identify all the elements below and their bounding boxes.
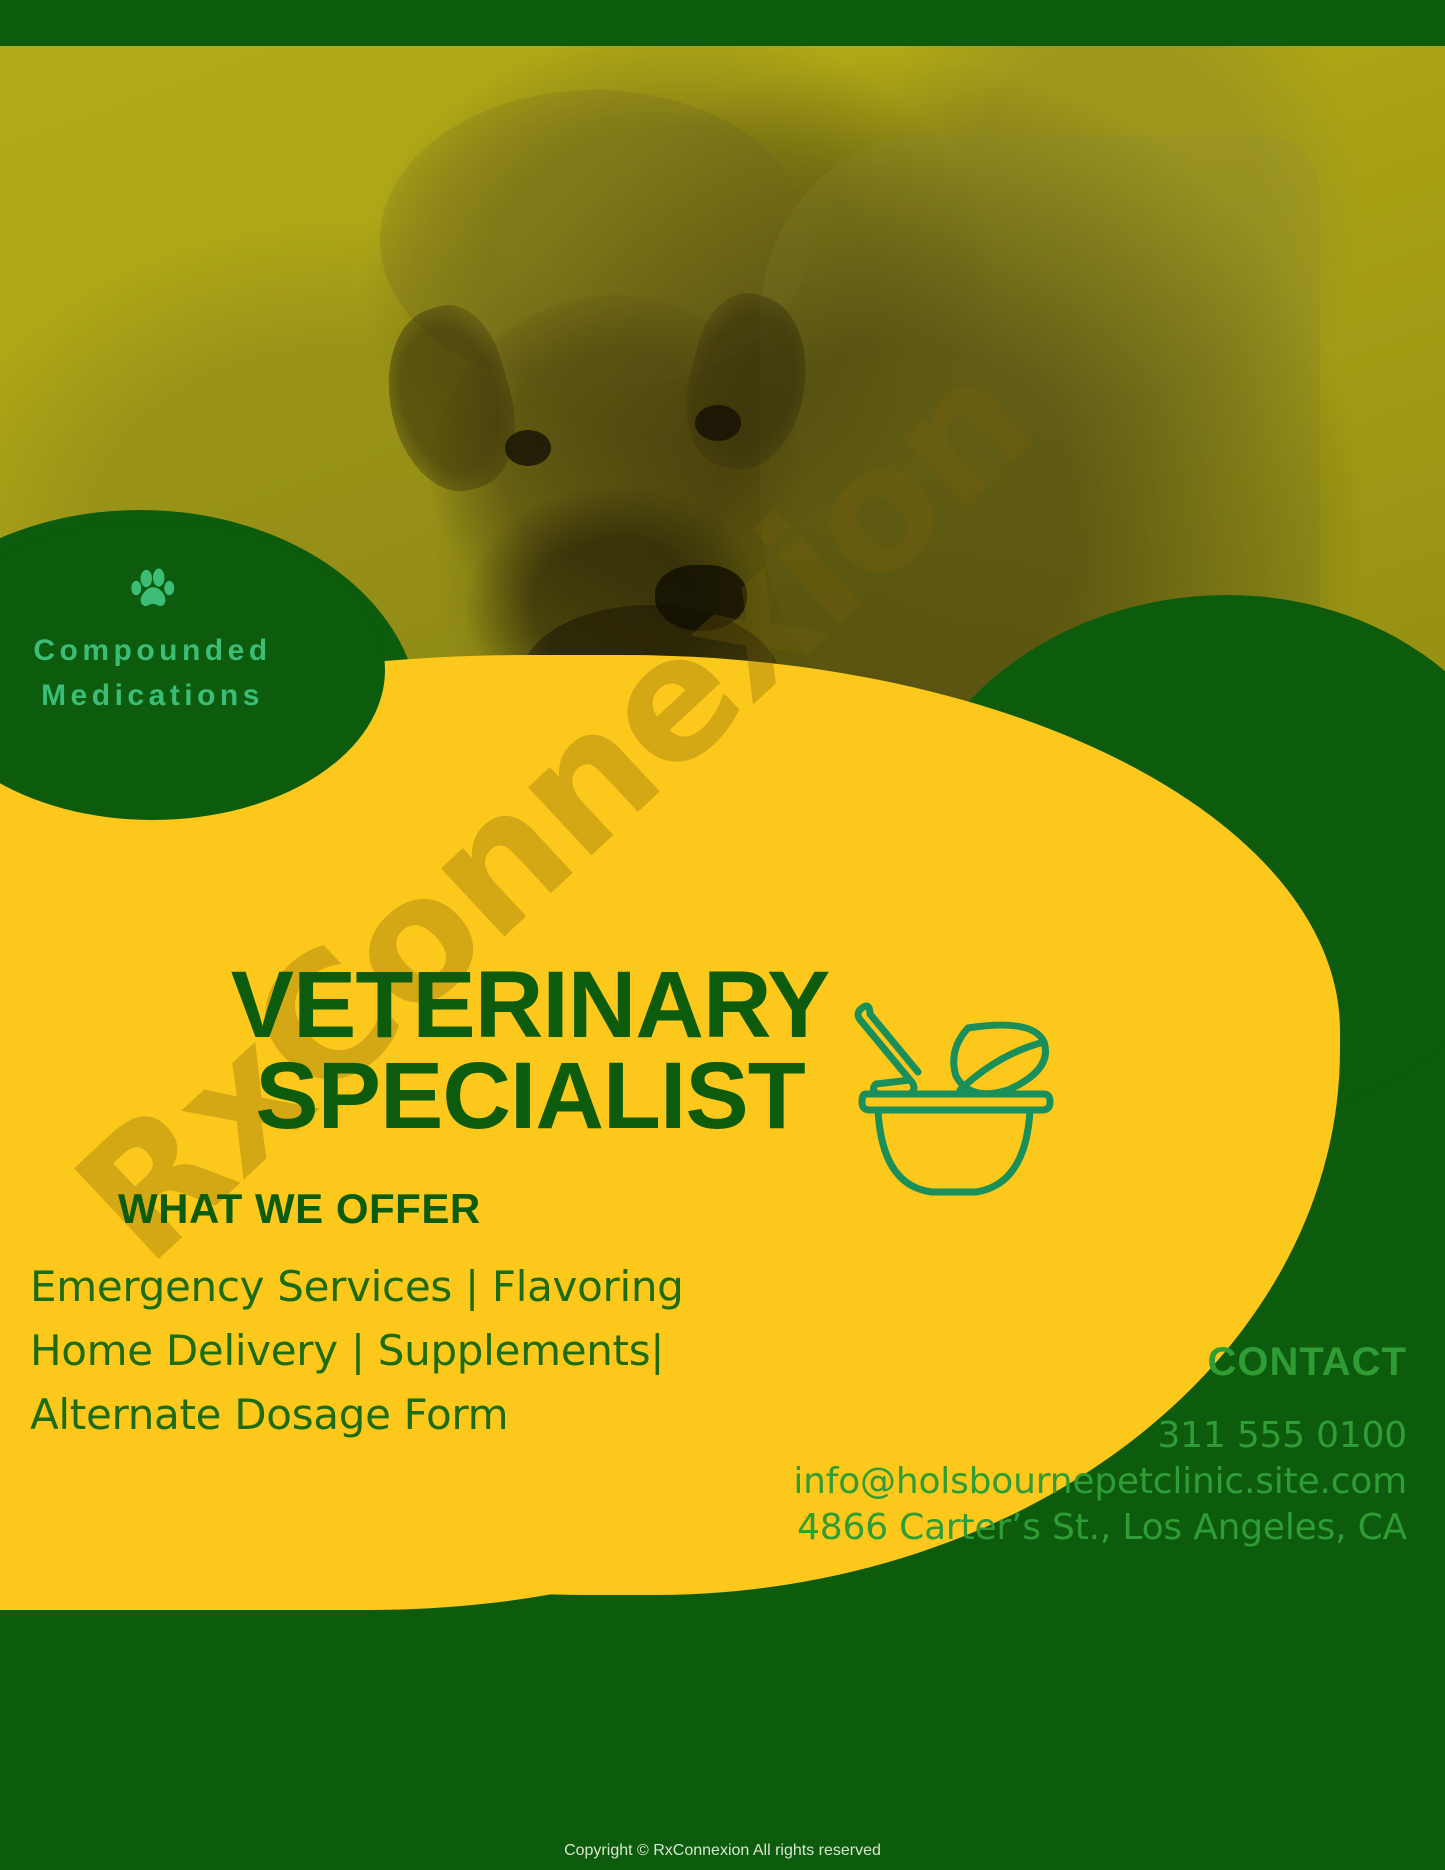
- footer-copyright: Copyright © RxConnexion All rights reser…: [0, 1842, 1445, 1860]
- offer-item: Alternate Dosage Form: [30, 1383, 730, 1447]
- contact-address: 4866 Carter’s St., Los Angeles, CA: [747, 1505, 1407, 1551]
- flyer-page: Compounded Medications RxConnexion VETER…: [0, 0, 1445, 1870]
- paw-print-icon: [130, 568, 176, 612]
- offer-item: Emergency Services | Flavoring: [30, 1255, 730, 1319]
- offer-heading: WHAT WE OFFER: [118, 1185, 481, 1233]
- offer-list: Emergency Services | Flavoring Home Deli…: [30, 1255, 730, 1446]
- badge-line-2: Medications: [41, 673, 264, 718]
- offer-item: Home Delivery | Supplements|: [30, 1319, 730, 1383]
- contact-phone[interactable]: 311 555 0100: [747, 1413, 1407, 1459]
- top-bar: [0, 0, 1445, 46]
- contact-heading: CONTACT: [747, 1340, 1407, 1385]
- badge-line-1: Compounded: [33, 628, 271, 673]
- contact-email[interactable]: info@holsbournepetclinic.site.com: [747, 1459, 1407, 1505]
- contact-block: CONTACT 311 555 0100 info@holsbournepetc…: [747, 1340, 1407, 1551]
- mortar-and-pestle-with-leaf-icon: [848, 998, 1063, 1203]
